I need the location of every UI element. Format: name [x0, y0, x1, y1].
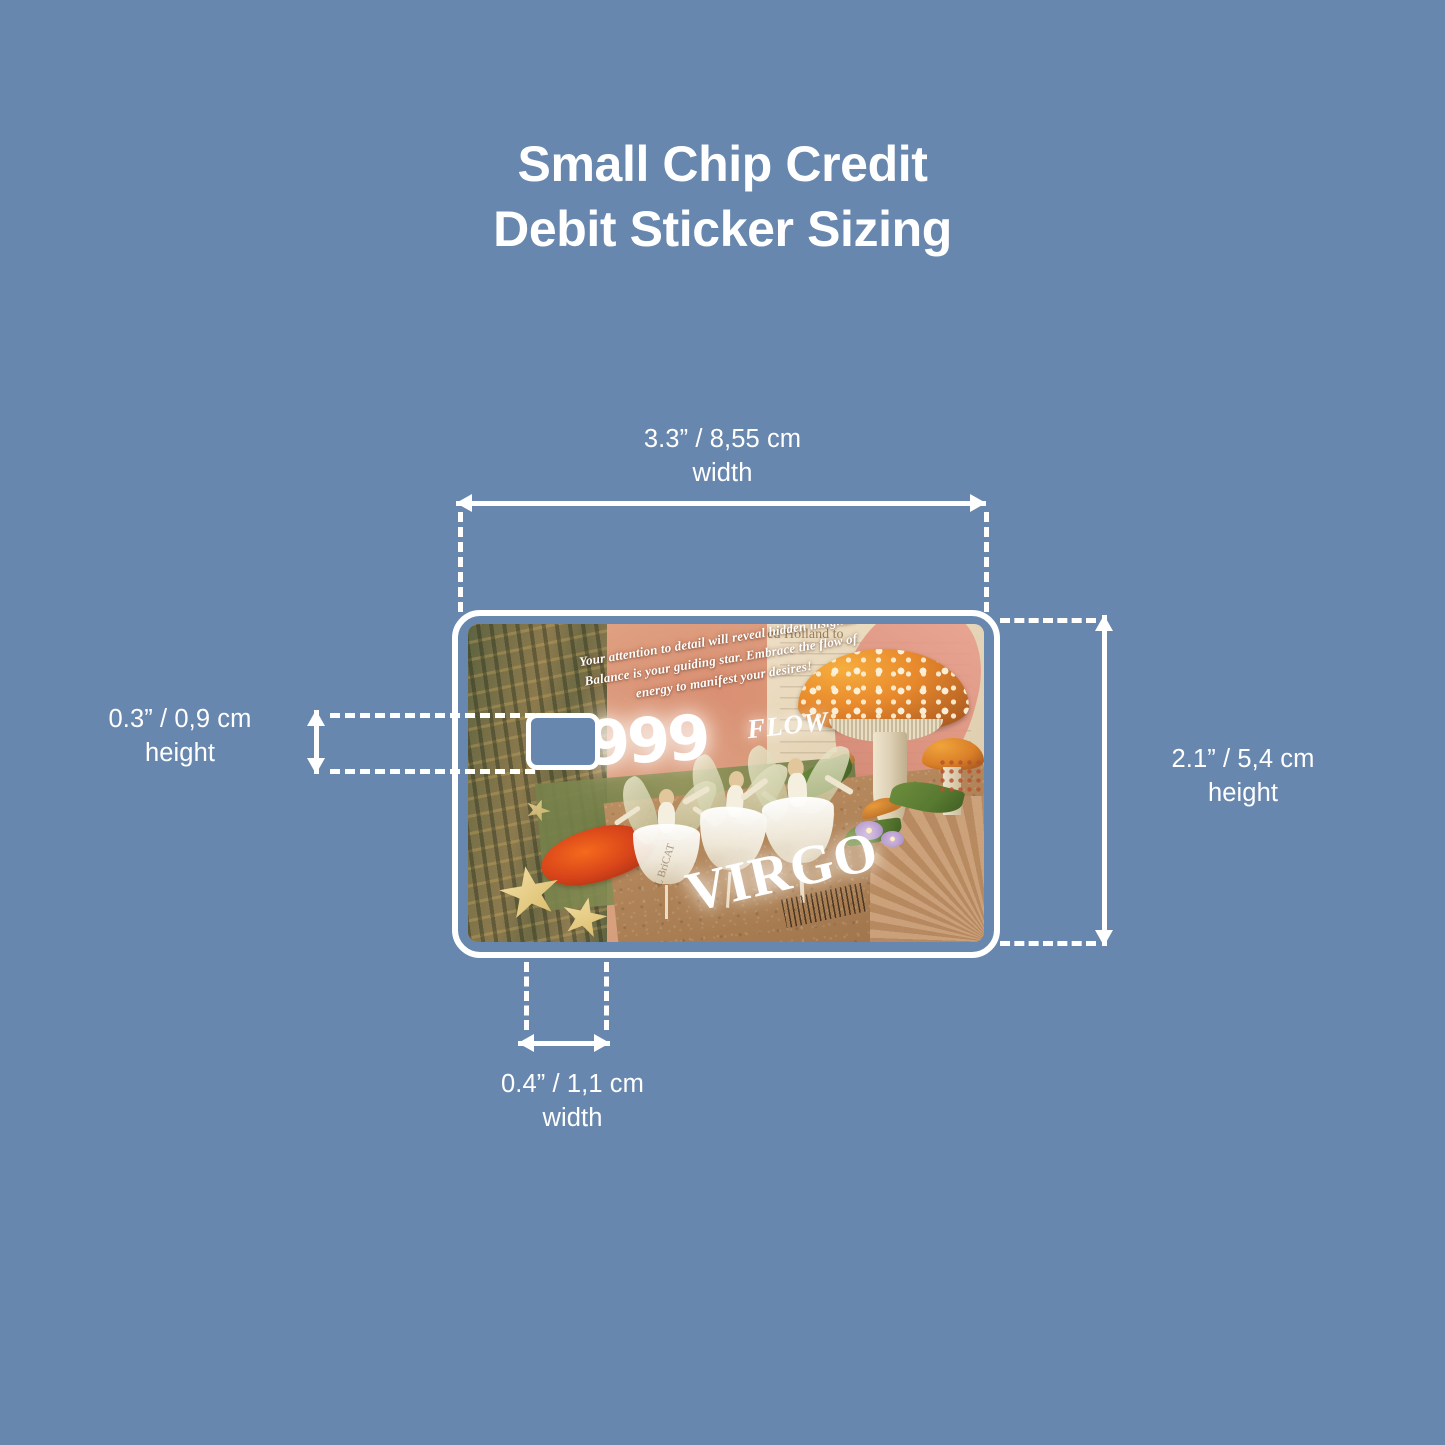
- dimension-arrow-chip-width: [518, 1032, 610, 1054]
- berry-sprig-icon: [938, 758, 984, 796]
- arrow-head-down-icon: [307, 758, 325, 774]
- arrow-head-left-icon: [518, 1034, 534, 1052]
- guide-line-card-bottom: [1000, 941, 1096, 946]
- dimension-label-card-width: 3.3” / 8,55 cm width: [520, 423, 925, 491]
- sticker-card-artwork: ed Holland to L BriCAT Your attention to…: [468, 624, 984, 942]
- dimension-label-chip-width: 0.4” / 1,1 cm width: [445, 1068, 700, 1136]
- guide-line-chip-top: [330, 713, 535, 718]
- arrow-head-left-icon: [456, 494, 472, 512]
- arrow-head-up-icon: [307, 710, 325, 726]
- dimension-arrow-chip-height: [305, 710, 327, 774]
- guide-line-card-top: [1000, 618, 1096, 623]
- guide-line-chip-bottom: [330, 769, 535, 774]
- sizing-diagram: Small Chip Credit Debit Sticker Sizing: [0, 0, 1445, 1445]
- card-angel-number: 999: [585, 700, 709, 779]
- dimension-label-card-height: 2.1” / 5,4 cm height: [1118, 743, 1368, 811]
- purple-flower-icon: [881, 831, 904, 847]
- guide-line-card-left: [458, 512, 463, 612]
- arrow-head-up-icon: [1095, 615, 1113, 631]
- page-title: Small Chip Credit Debit Sticker Sizing: [0, 132, 1445, 262]
- guide-line-card-right: [984, 512, 989, 612]
- dimension-label-chip-height: 0.3” / 0,9 cm height: [60, 703, 300, 771]
- dimension-arrow-card-width: [456, 492, 986, 514]
- arrow-head-right-icon: [594, 1034, 610, 1052]
- chip-cutout: [526, 713, 600, 770]
- arrow-head-right-icon: [970, 494, 986, 512]
- dimension-arrow-card-height: [1093, 615, 1115, 946]
- guide-line-chip-right: [604, 962, 609, 1030]
- arrow-head-down-icon: [1095, 930, 1113, 946]
- guide-line-chip-left: [524, 962, 529, 1030]
